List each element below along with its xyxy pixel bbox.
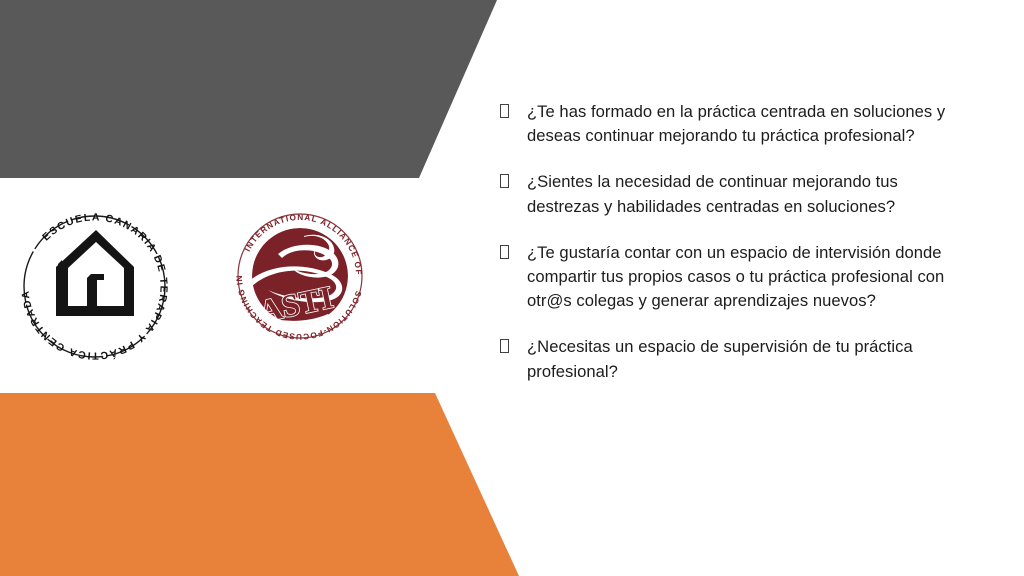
list-item: ¿Te has formado en la práctica centrada … xyxy=(494,100,972,148)
slide-canvas: ESCUELA CANARIA DE TERAPIA Y PRÁCTICA CE… xyxy=(0,0,1024,576)
house-outline-icon xyxy=(56,230,134,316)
orange-angled-shape xyxy=(0,393,519,576)
list-item-text: ¿Sientes la necesidad de continuar mejor… xyxy=(527,170,972,218)
empty-box-bullet-icon xyxy=(500,339,509,353)
list-item: ¿Necesitas un espacio de supervisión de … xyxy=(494,335,972,383)
list-item-text: ¿Te has formado en la práctica centrada … xyxy=(527,100,972,148)
iasti-logo: INTERNATIONAL ALLIANCE OF SOLUTION-FOCUS… xyxy=(234,210,366,342)
empty-box-bullet-icon xyxy=(500,104,509,118)
list-item: ¿Sientes la necesidad de continuar mejor… xyxy=(494,170,972,218)
empty-box-bullet-icon xyxy=(500,245,509,259)
empty-box-bullet-icon xyxy=(500,174,509,188)
escuela-canaria-logo: ESCUELA CANARIA DE TERAPIA Y PRÁCTICA CE… xyxy=(12,204,177,369)
logo-row: ESCUELA CANARIA DE TERAPIA Y PRÁCTICA CE… xyxy=(0,198,380,378)
list-item-text: ¿Necesitas un espacio de supervisión de … xyxy=(527,335,972,383)
list-item: ¿Te gustaría contar con un espacio de in… xyxy=(494,241,972,314)
list-item-text: ¿Te gustaría contar con un espacio de in… xyxy=(527,241,972,314)
bullet-list: ¿Te has formado en la práctica centrada … xyxy=(494,100,972,384)
gray-angled-shape xyxy=(0,0,497,178)
